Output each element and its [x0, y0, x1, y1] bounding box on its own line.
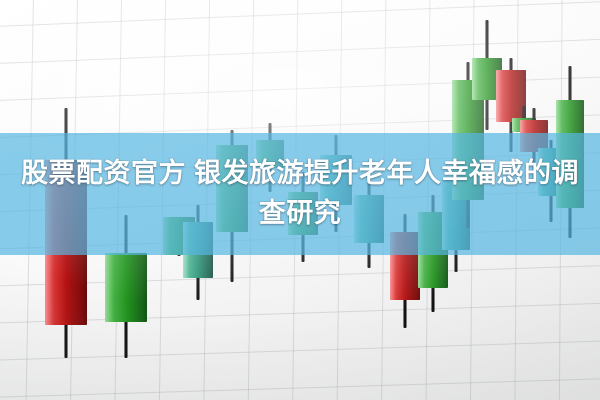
title-overlay-content: 股票配资官方 银发旅游提升老年人幸福感的调查研究 — [0, 133, 600, 255]
candlestick-banner-image: 股票配资官方 银发旅游提升老年人幸福感的调查研究 — [0, 0, 600, 400]
title-overlay-band: 股票配资官方 银发旅游提升老年人幸福感的调查研究 — [0, 133, 600, 255]
page-title: 股票配资官方 银发旅游提升老年人幸福感的调查研究 — [20, 154, 580, 234]
candlestick-body — [105, 253, 147, 322]
